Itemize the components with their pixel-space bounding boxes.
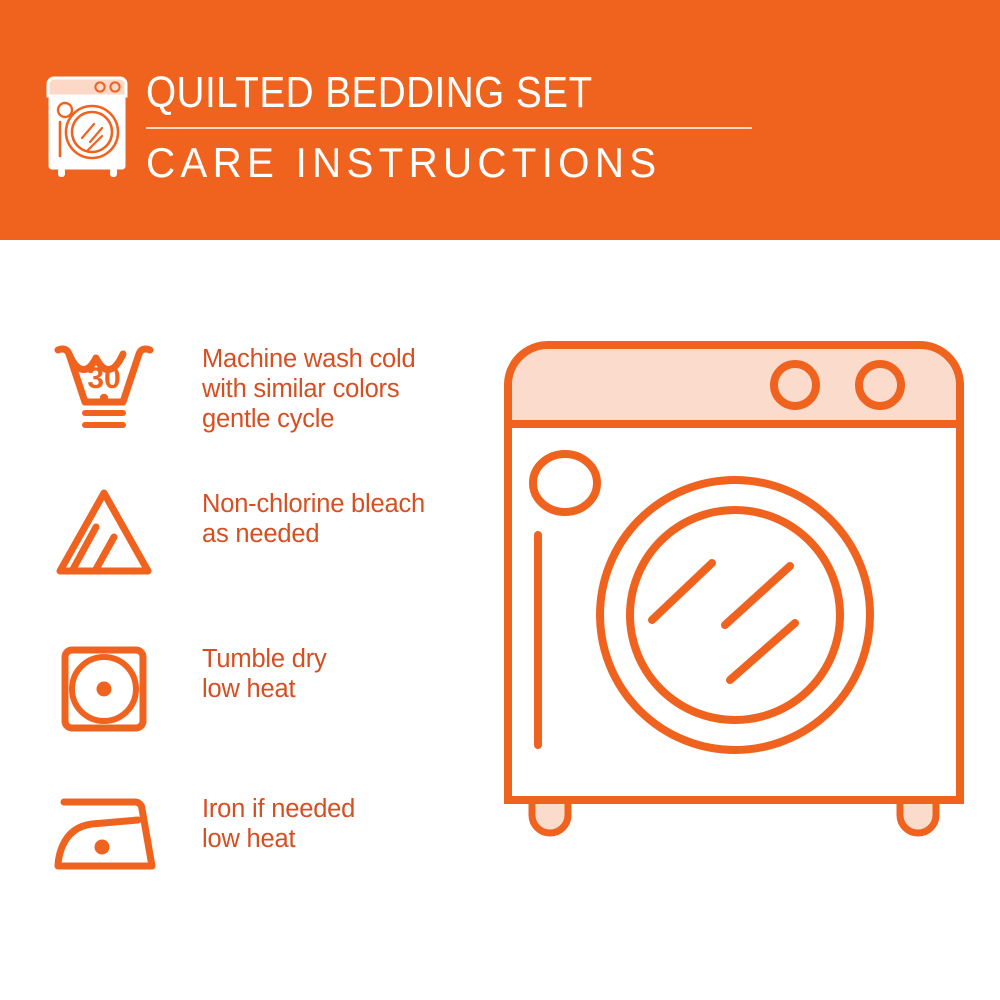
knob-right — [859, 364, 901, 406]
wash-temperature-label: 30 — [87, 362, 120, 395]
detergent-port — [533, 454, 597, 512]
instruction-row-tumble-dry: Tumble dry low heat — [52, 640, 482, 738]
instruction-line: low heat — [202, 824, 355, 854]
non-chlorine-bleach-triangle-icon — [52, 485, 164, 581]
instruction-line: Non-chlorine bleach — [202, 489, 425, 519]
instruction-line: Tumble dry — [202, 644, 327, 674]
instruction-text-tumble-dry: Tumble dry low heat — [202, 640, 327, 704]
washing-machine-icon — [44, 74, 136, 178]
tumble-dry-low-heat-icon — [52, 640, 164, 738]
page-subtitle: CARE INSTRUCTIONS — [146, 139, 741, 187]
instruction-text-machine-wash: Machine wash cold with similar colors ge… — [202, 340, 415, 434]
instruction-text-iron: Iron if needed low heat — [202, 790, 355, 854]
care-instruction-list: 30 Machine wash cold with similar colors… — [0, 240, 500, 1000]
header-text-block: QUILTED BEDDING SET CARE INSTRUCTIONS — [146, 68, 766, 187]
instruction-line: as needed — [202, 519, 425, 549]
instruction-row-bleach: Non-chlorine bleach as needed — [52, 485, 482, 581]
page-title: QUILTED BEDDING SET — [146, 68, 692, 118]
instruction-text-bleach: Non-chlorine bleach as needed — [202, 485, 425, 549]
instruction-line: low heat — [202, 674, 327, 704]
iron-low-heat-icon — [52, 790, 164, 876]
instruction-line: Iron if needed — [202, 794, 355, 824]
header-banner: QUILTED BEDDING SET CARE INSTRUCTIONS — [0, 0, 1000, 240]
wash-tub-30-gentle-icon: 30 — [52, 340, 164, 440]
front-load-washing-machine-illustration — [480, 320, 980, 940]
instruction-line: gentle cycle — [202, 404, 415, 434]
instruction-line: with similar colors — [202, 374, 415, 404]
instruction-row-machine-wash: 30 Machine wash cold with similar colors… — [52, 340, 482, 440]
instruction-line: Machine wash cold — [202, 344, 415, 374]
knob-left — [774, 364, 816, 406]
instruction-row-iron: Iron if needed low heat — [52, 790, 482, 876]
header-divider — [146, 127, 752, 129]
